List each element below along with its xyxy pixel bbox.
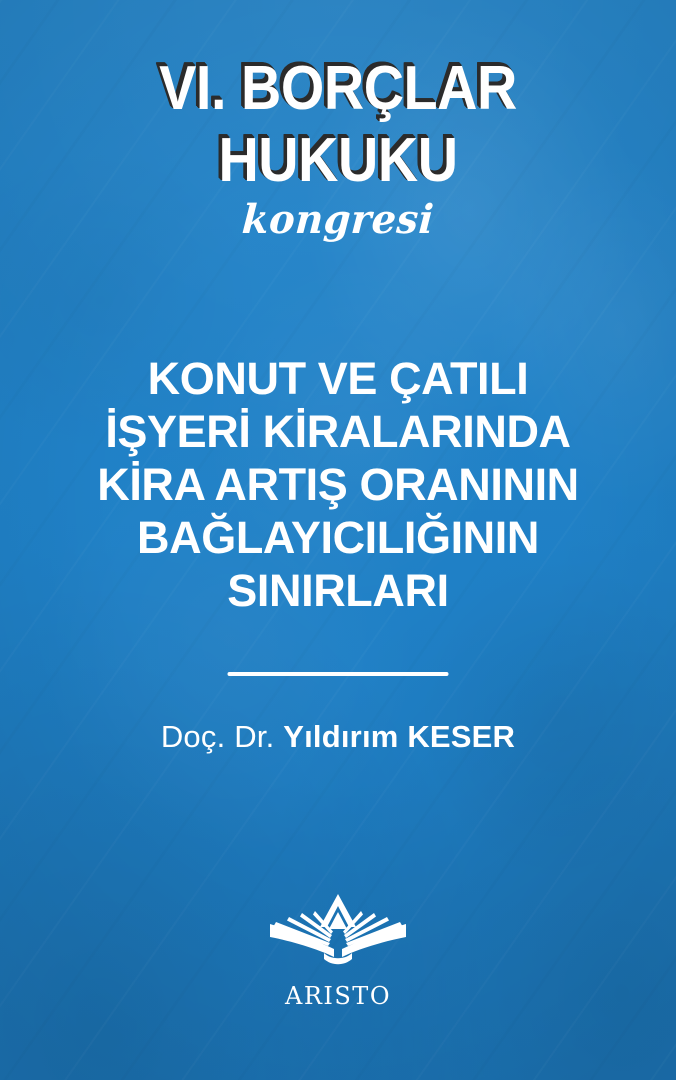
title-line: SINIRLARI (34, 564, 642, 617)
divider (228, 672, 449, 676)
cover-content: VI. BORÇLAR HUKUKU kongresi KONUT VE ÇAT… (0, 0, 676, 1080)
page-title: KONUT VE ÇATILI İŞYERİ KİRALARINDA KİRA … (34, 352, 642, 617)
congress-subtitle-script: kongresi (12, 200, 664, 240)
publisher-block: Aristo (0, 893, 676, 1015)
congress-title-line-2: HUKUKU (34, 130, 642, 192)
open-book-with-rays-and-a-icon (268, 893, 408, 969)
congress-title-line-1: VI. BORÇLAR (34, 58, 642, 120)
congress-header: VI. BORÇLAR HUKUKU kongresi (0, 58, 676, 240)
author-academic-title: Doç. Dr. (161, 719, 283, 754)
title-line: BAĞLAYICILIĞININ (34, 511, 642, 564)
author-name: Yıldırım KESER (283, 719, 515, 754)
author-line: Doç. Dr. Yıldırım KESER (0, 718, 676, 756)
book-cover: VI. BORÇLAR HUKUKU kongresi KONUT VE ÇAT… (0, 0, 676, 1080)
title-line: KONUT VE ÇATILI (34, 352, 642, 405)
title-line: KİRA ARTIŞ ORANININ (34, 458, 642, 511)
title-line: İŞYERİ KİRALARINDA (34, 405, 642, 458)
publisher-wordmark: Aristo (0, 971, 676, 1015)
